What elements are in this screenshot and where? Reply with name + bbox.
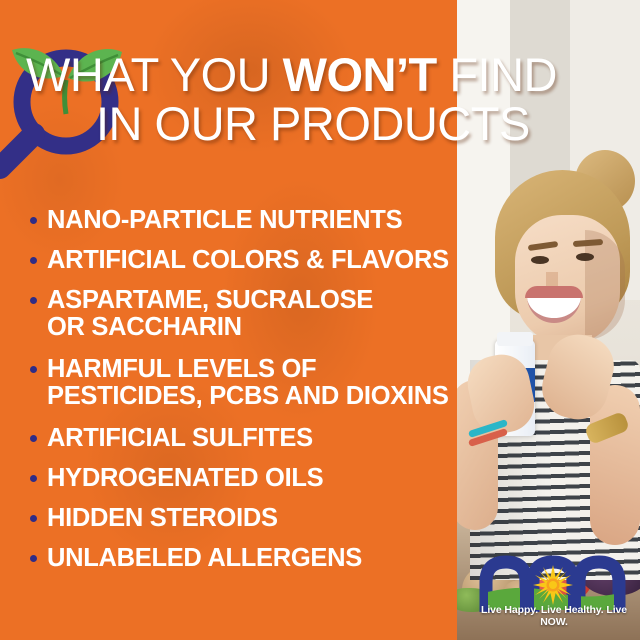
promotional-poster: WHAT YOU WON’T FIND IN OUR PRODUCTS NANO… — [0, 0, 640, 640]
list-item: HIDDEN STEROIDS — [28, 505, 458, 532]
list-item-label: HYDROGENATED OILS — [47, 465, 323, 492]
list-item: ARTIFICIAL SULFITES — [28, 425, 458, 452]
headline-line-1: WHAT YOU WON’T FIND — [0, 52, 600, 97]
list-item-label: NANO-PARTICLE NUTRIENTS — [47, 207, 402, 234]
list-item: ASPARTAME, SUCRALOSEOR SACCHARIN — [28, 287, 458, 341]
headline-emphasis: WON’T — [283, 48, 437, 101]
bottle-cap — [497, 332, 533, 346]
list-item-label: ARTIFICIAL SULFITES — [47, 425, 313, 452]
bullet-dot-icon — [30, 217, 37, 224]
list-item: HYDROGENATED OILS — [28, 465, 458, 492]
photo-eye — [531, 256, 549, 264]
list-item-label: ASPARTAME, SUCRALOSEOR SACCHARIN — [47, 287, 373, 341]
headline-line-2: IN OUR PRODUCTS — [0, 101, 600, 146]
list-item: NANO-PARTICLE NUTRIENTS — [28, 207, 458, 234]
list-item-line: ASPARTAME, SUCRALOSE — [47, 286, 373, 314]
page-title: WHAT YOU WON’T FIND IN OUR PRODUCTS — [0, 52, 600, 146]
bullet-dot-icon — [30, 366, 37, 373]
photo-eye — [576, 253, 594, 261]
bullet-dot-icon — [30, 475, 37, 482]
list-item-line: OR SACCHARIN — [47, 313, 242, 341]
list-item-label: HIDDEN STEROIDS — [47, 505, 278, 532]
list-item-line: HARMFUL LEVELS OF — [47, 355, 316, 383]
brand-tagline: Live Happy. Live Healthy. Live NOW. — [478, 604, 630, 628]
exclusion-list: NANO-PARTICLE NUTRIENTS ARTIFICIAL COLOR… — [28, 207, 458, 585]
list-item: UNLABELED ALLERGENS — [28, 545, 458, 572]
list-item-label: ARTIFICIAL COLORS & FLAVORS — [47, 247, 449, 274]
bullet-dot-icon — [30, 297, 37, 304]
headline-text-b: FIND — [437, 48, 557, 101]
photo-lip — [525, 286, 583, 298]
list-item: ARTIFICIAL COLORS & FLAVORS — [28, 247, 458, 274]
bullet-dot-icon — [30, 435, 37, 442]
bullet-dot-icon — [30, 555, 37, 562]
list-item: HARMFUL LEVELS OFPESTICIDES, PCBS AND DI… — [28, 356, 458, 410]
sunburst-icon — [533, 565, 573, 605]
headline-text-a: WHAT YOU — [26, 48, 283, 101]
bullet-dot-icon — [30, 257, 37, 264]
list-item-label: UNLABELED ALLERGENS — [47, 545, 362, 572]
bullet-dot-icon — [30, 515, 37, 522]
list-item-line: PESTICIDES, PCBS AND DIOXINS — [47, 382, 449, 410]
list-item-label: HARMFUL LEVELS OFPESTICIDES, PCBS AND DI… — [47, 356, 449, 410]
